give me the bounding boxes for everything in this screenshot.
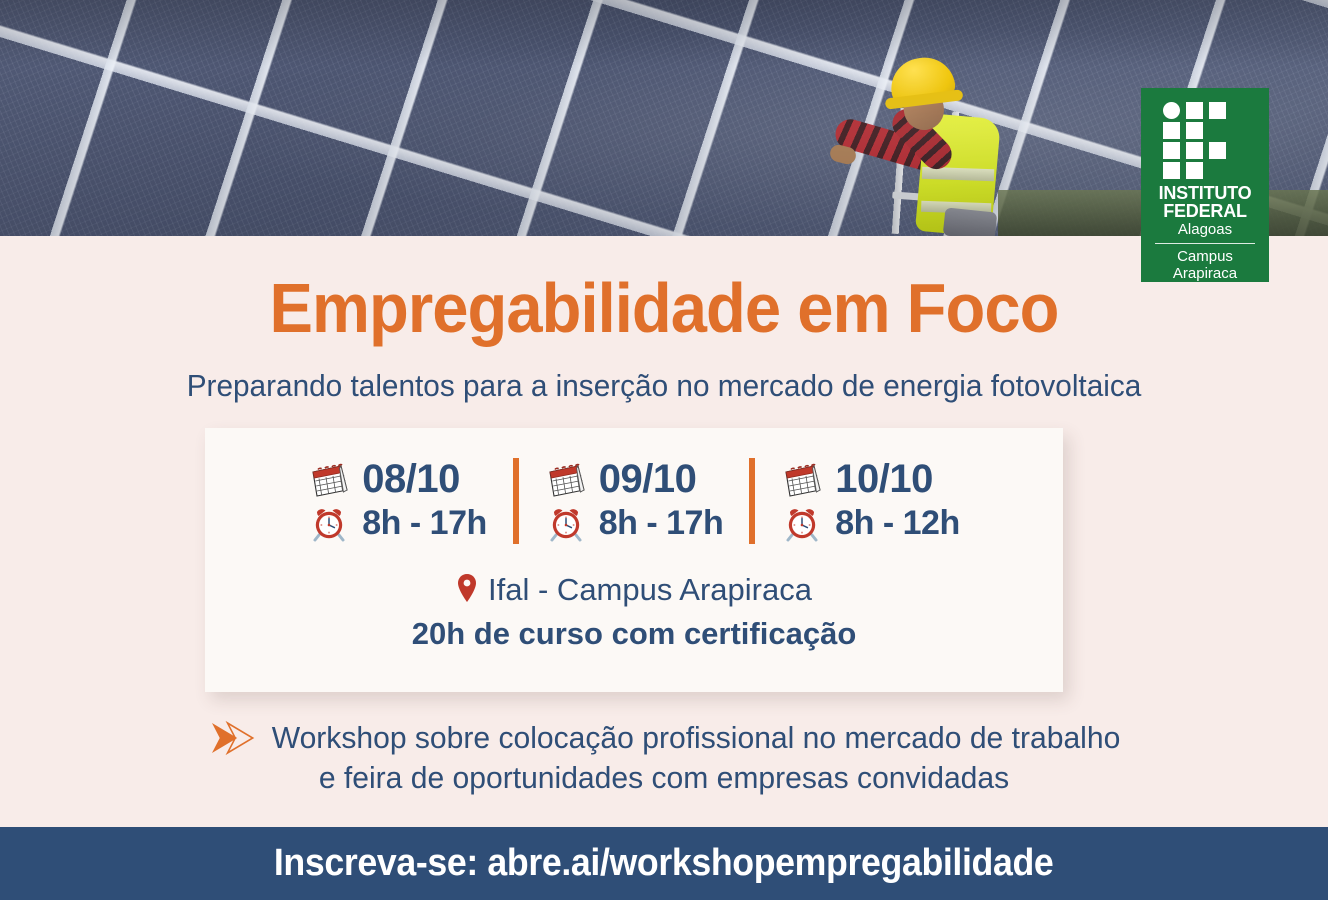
photo-shading-overlay — [0, 0, 1328, 236]
workshop-line-2: e feira de oportunidades com empresas co… — [20, 758, 1308, 798]
logo-line-federal: FEDERAL — [1149, 202, 1261, 220]
footer-bar: Inscreva-se: abre.ai/workshopempregabili… — [0, 827, 1328, 900]
alarm-clock-icon — [308, 503, 350, 543]
hero-photo — [0, 0, 1328, 236]
date-column-1: 08/10 — [282, 459, 512, 543]
page-subtitle: Preparando talentos para a inserção no m… — [27, 368, 1302, 404]
calendar-icon — [308, 459, 350, 499]
logo-line-alagoas: Alagoas — [1149, 222, 1261, 239]
calendar-icon — [545, 459, 587, 499]
logo-line-campus: Campus — [1149, 248, 1261, 265]
workshop-line-1: Workshop sobre colocação profissional no… — [272, 718, 1121, 758]
poster-root: INSTITUTO FEDERAL Alagoas Campus Arapira… — [0, 0, 1328, 900]
page-title: Empregabilidade em Foco — [46, 268, 1281, 348]
map-pin-icon — [456, 573, 478, 608]
date-value: 08/10 — [362, 459, 460, 499]
date-line: 08/10 — [308, 459, 486, 499]
alarm-clock-icon — [545, 503, 587, 543]
certification-text: 20h de curso com certificação — [205, 616, 1063, 652]
ifal-logo: INSTITUTO FEDERAL Alagoas Campus Arapira… — [1141, 88, 1269, 282]
location-row: Ifal - Campus Arapiraca — [205, 572, 1063, 608]
date-column-2: 09/10 — [519, 459, 749, 543]
location-text: Ifal - Campus Arapiraca — [488, 572, 812, 608]
dates-row: 08/10 — [205, 428, 1063, 550]
date-line: 09/10 — [545, 459, 723, 499]
calendar-icon — [781, 459, 823, 499]
info-card: 08/10 — [205, 428, 1063, 692]
date-column-3: 10/10 — [755, 459, 985, 543]
time-value: 8h - 12h — [835, 506, 959, 540]
workshop-description: Workshop sobre colocação profissional no… — [20, 718, 1308, 797]
time-value: 8h - 17h — [362, 506, 486, 540]
logo-divider — [1155, 243, 1255, 244]
date-value: 09/10 — [599, 459, 697, 499]
arrow-right-icon — [208, 719, 262, 757]
time-line: 8h - 17h — [308, 503, 486, 543]
time-line: 8h - 17h — [545, 503, 723, 543]
time-value: 8h - 17h — [599, 506, 723, 540]
logo-line-instituto: INSTITUTO — [1149, 184, 1261, 202]
time-line: 8h - 12h — [781, 503, 959, 543]
if-logo-mark-icon — [1163, 102, 1247, 178]
date-line: 10/10 — [781, 459, 959, 499]
date-value: 10/10 — [835, 459, 933, 499]
registration-cta[interactable]: Inscreva-se: abre.ai/workshopempregabili… — [274, 842, 1054, 885]
alarm-clock-icon — [781, 503, 823, 543]
